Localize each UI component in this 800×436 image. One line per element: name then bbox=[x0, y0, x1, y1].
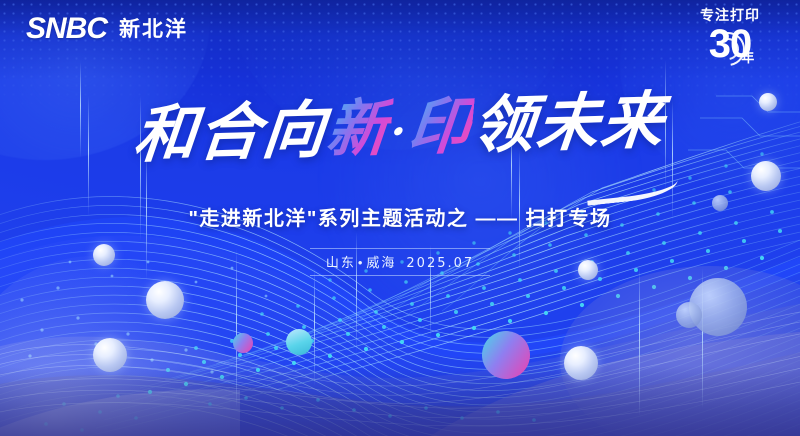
title-part-gradient: 新 bbox=[324, 91, 395, 166]
snbc-chinese-name: 新北洋 bbox=[119, 19, 188, 40]
hero-subtitle: "走进新北洋"系列主题活动之 —— 扫打专场 bbox=[0, 202, 800, 231]
event-meta-bar: 山东•威海2025.07 bbox=[0, 248, 800, 276]
event-meta-separator: • bbox=[356, 255, 367, 270]
event-city: 威海 bbox=[366, 255, 396, 270]
orb-white-2 bbox=[146, 281, 184, 319]
orb-white-3 bbox=[93, 338, 127, 372]
snbc-logo[interactable]: SNBC 新北洋 bbox=[26, 14, 188, 44]
snbc-wordmark: SNBC bbox=[26, 14, 107, 44]
page-title: 和合向新·印领未来 bbox=[131, 89, 668, 167]
orb-cyan-1 bbox=[286, 329, 312, 355]
orb-white-9 bbox=[751, 161, 781, 191]
title-part-white: 领未来 bbox=[469, 84, 669, 162]
orb-white-7 bbox=[676, 302, 702, 328]
event-date: 2025.07 bbox=[406, 256, 474, 271]
event-province: 山东 bbox=[326, 255, 356, 270]
title-part-white: 和合向 bbox=[131, 93, 331, 171]
orb-white-5 bbox=[564, 346, 598, 380]
event-meta-inner: 山东•威海2025.07 bbox=[310, 248, 490, 276]
badge-year-unit: 年 bbox=[741, 51, 753, 64]
hero-title-block: 和合向新·印领未来 bbox=[0, 96, 800, 159]
orb-pink-2 bbox=[482, 331, 530, 379]
orb-pink-1 bbox=[233, 333, 253, 353]
title-part-gradient: 印 bbox=[405, 89, 476, 164]
poster-canvas: SNBC 新北洋 专注打印 30 年 和合向新·印领未来 "走进新北洋"系列主题… bbox=[0, 0, 800, 436]
badge-tagline: 专注打印 bbox=[682, 8, 778, 23]
badge-number-wrap: 30 年 bbox=[709, 24, 752, 64]
anniversary-badge: 专注打印 30 年 bbox=[682, 8, 778, 64]
